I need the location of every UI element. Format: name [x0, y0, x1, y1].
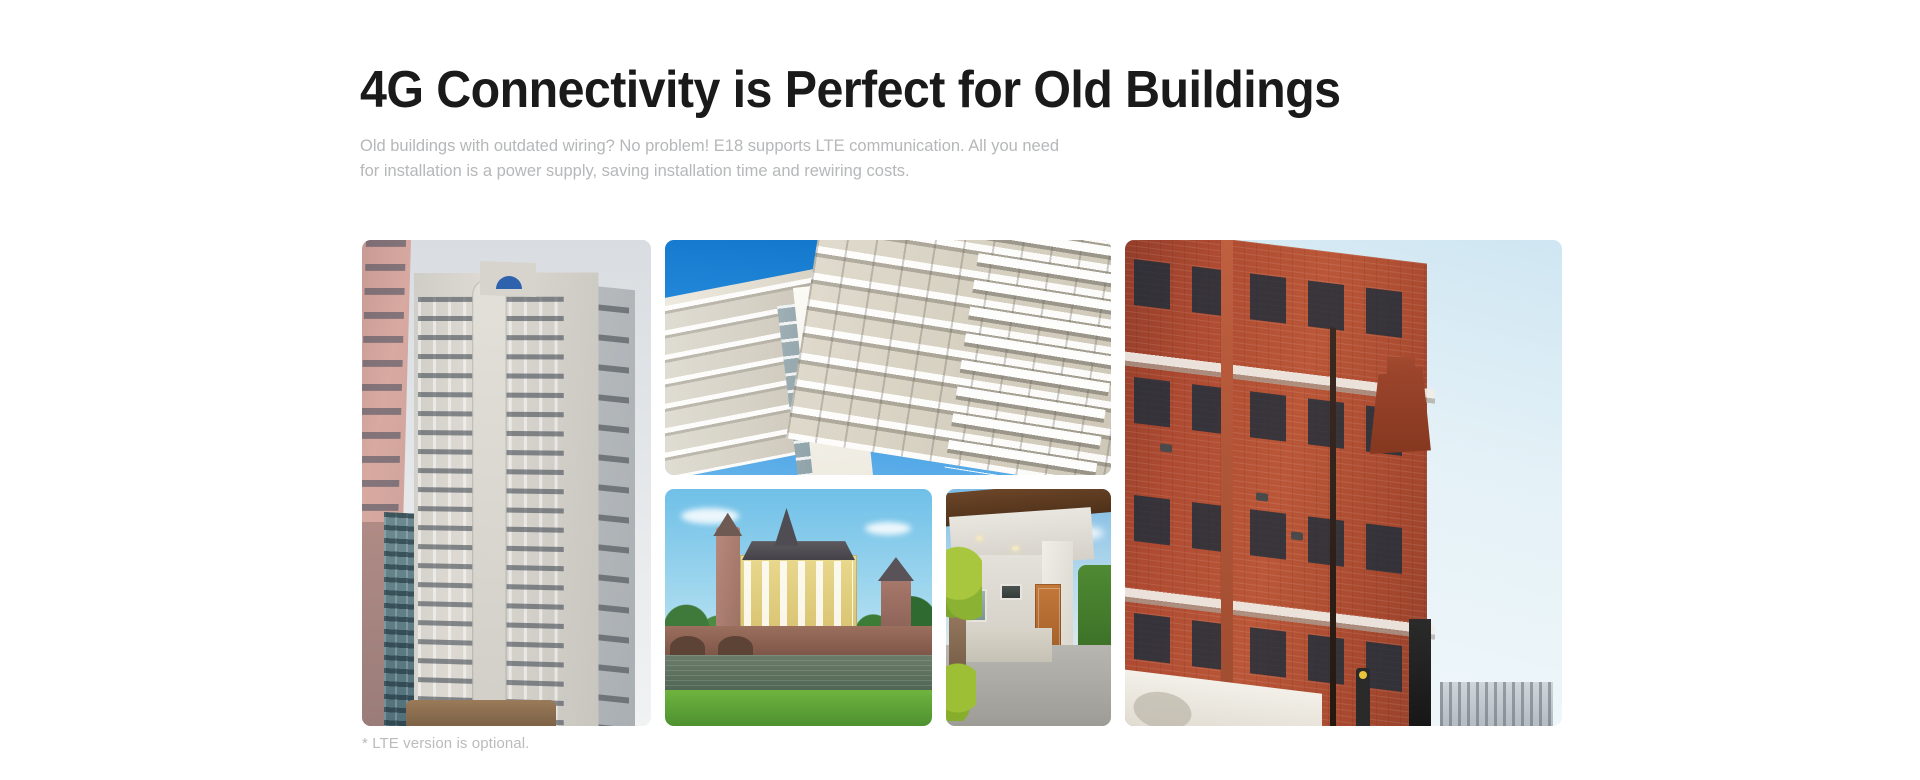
gallery-image-red-brick-victorian-facade: [1125, 240, 1562, 726]
corner-turret: [881, 579, 910, 631]
rain-downpipe: [1330, 327, 1336, 726]
distant-building: [1440, 682, 1554, 726]
stone-cornice-bands: [1125, 240, 1435, 726]
brick-pilaster: [1221, 240, 1233, 726]
gallery-image-modern-villa-carport-entrance: [946, 489, 1111, 726]
central-spire: [774, 508, 798, 546]
gallery-image-yellow-castle-with-moat: [665, 489, 932, 726]
shrub-planting: [946, 655, 976, 721]
gallery-image-grey-highrise-apartment-tower: [362, 240, 651, 726]
stone-wall: [665, 626, 932, 654]
roof-gable: [1370, 366, 1431, 453]
page-subtitle: Old buildings with outdated wiring? No p…: [360, 133, 1060, 183]
traffic-light: [1356, 668, 1370, 726]
header: 4G Connectivity is Perfect for Old Build…: [360, 62, 1560, 184]
gallery-image-white-modern-apartment-building: [665, 240, 1111, 475]
grass-lawn: [665, 690, 932, 726]
tower-podium-base: [406, 700, 556, 726]
cloud: [865, 522, 911, 535]
street-sign-post: [1409, 619, 1431, 726]
wall-light: [1291, 531, 1303, 540]
page-title: 4G Connectivity is Perfect for Old Build…: [360, 62, 1476, 119]
castle-roof: [737, 541, 860, 560]
wall-light: [1160, 443, 1172, 452]
castle-main-block: [740, 555, 857, 631]
tower-main-facade: [414, 272, 599, 726]
page-root: 4G Connectivity is Perfect for Old Build…: [0, 0, 1920, 780]
image-gallery: [362, 240, 1562, 712]
wall-light: [1256, 492, 1268, 501]
gallery-bottom-row: [665, 489, 1111, 726]
footnote-lte-optional: * LTE version is optional.: [362, 735, 529, 752]
ceiling-downlight: [1012, 546, 1019, 551]
castle-round-tower: [716, 527, 740, 636]
villa-window-small: [1000, 584, 1021, 601]
moat-water: [665, 655, 932, 695]
shrub-planting: [946, 541, 982, 622]
